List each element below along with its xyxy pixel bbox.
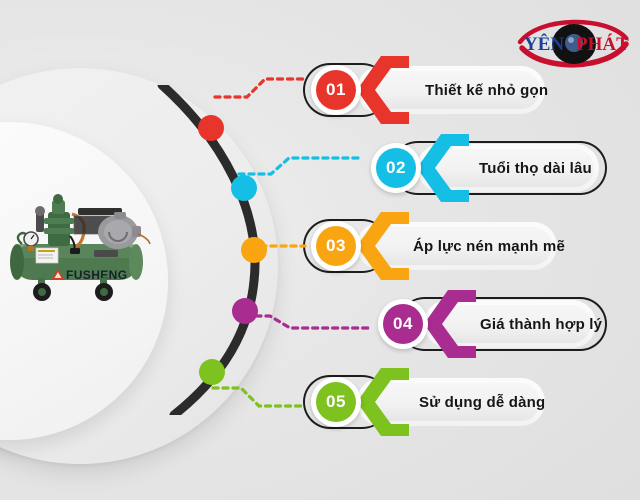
feature-number-badge-1: 01 [311, 65, 361, 115]
logo-text-yen: YÊN [524, 33, 564, 55]
infographic-canvas: FUSHENG [0, 0, 640, 500]
feature-number-2: 02 [376, 148, 416, 188]
feature-number-badge-4: 04 [378, 299, 428, 349]
connector-line-1 [213, 75, 303, 97]
feature-number-1: 01 [316, 70, 356, 110]
feature-label-1: Thiết kế nhỏ gọn [425, 82, 548, 99]
feature-row-1[interactable]: Thiết kế nhỏ gọn 01 [295, 50, 545, 130]
connector-line-5 [211, 384, 303, 406]
feature-number-4: 04 [383, 304, 423, 344]
connector-line-4 [234, 312, 370, 334]
feature-number-badge-2: 02 [371, 143, 421, 193]
svg-text:FUSHENG: FUSHENG [66, 268, 127, 282]
spine-dot-red [198, 115, 224, 141]
feature-number-badge-5: 05 [311, 377, 361, 427]
yen-phat-logo: YÊN PHÁT [514, 8, 632, 78]
feature-label-2: Tuổi thọ dài lâu [479, 160, 592, 177]
logo-text-phat: PHÁT [576, 33, 629, 55]
connector-line-3 [249, 234, 305, 256]
connector-line-2 [237, 154, 361, 176]
spine-dot-green [199, 359, 225, 385]
feature-number-badge-3: 03 [311, 221, 361, 271]
feature-label-4: Giá thành hợp lý [480, 316, 602, 333]
product-image-air-compressor: FUSHENG [8, 186, 168, 302]
feature-number-3: 03 [316, 226, 356, 266]
feature-label-3: Áp lực nén mạnh mẽ [413, 238, 565, 255]
feature-row-5[interactable]: Sử dụng dễ dàng 05 [295, 362, 545, 442]
spine-dot-cyan [231, 175, 257, 201]
feature-row-4[interactable]: Giá thành hợp lý 04 [362, 284, 607, 364]
feature-row-3[interactable]: Áp lực nén mạnh mẽ 03 [295, 206, 557, 286]
feature-label-5: Sử dụng dễ dàng [419, 394, 545, 411]
feature-number-5: 05 [316, 382, 356, 422]
feature-row-2[interactable]: Tuổi thọ dài lâu 02 [355, 128, 607, 208]
